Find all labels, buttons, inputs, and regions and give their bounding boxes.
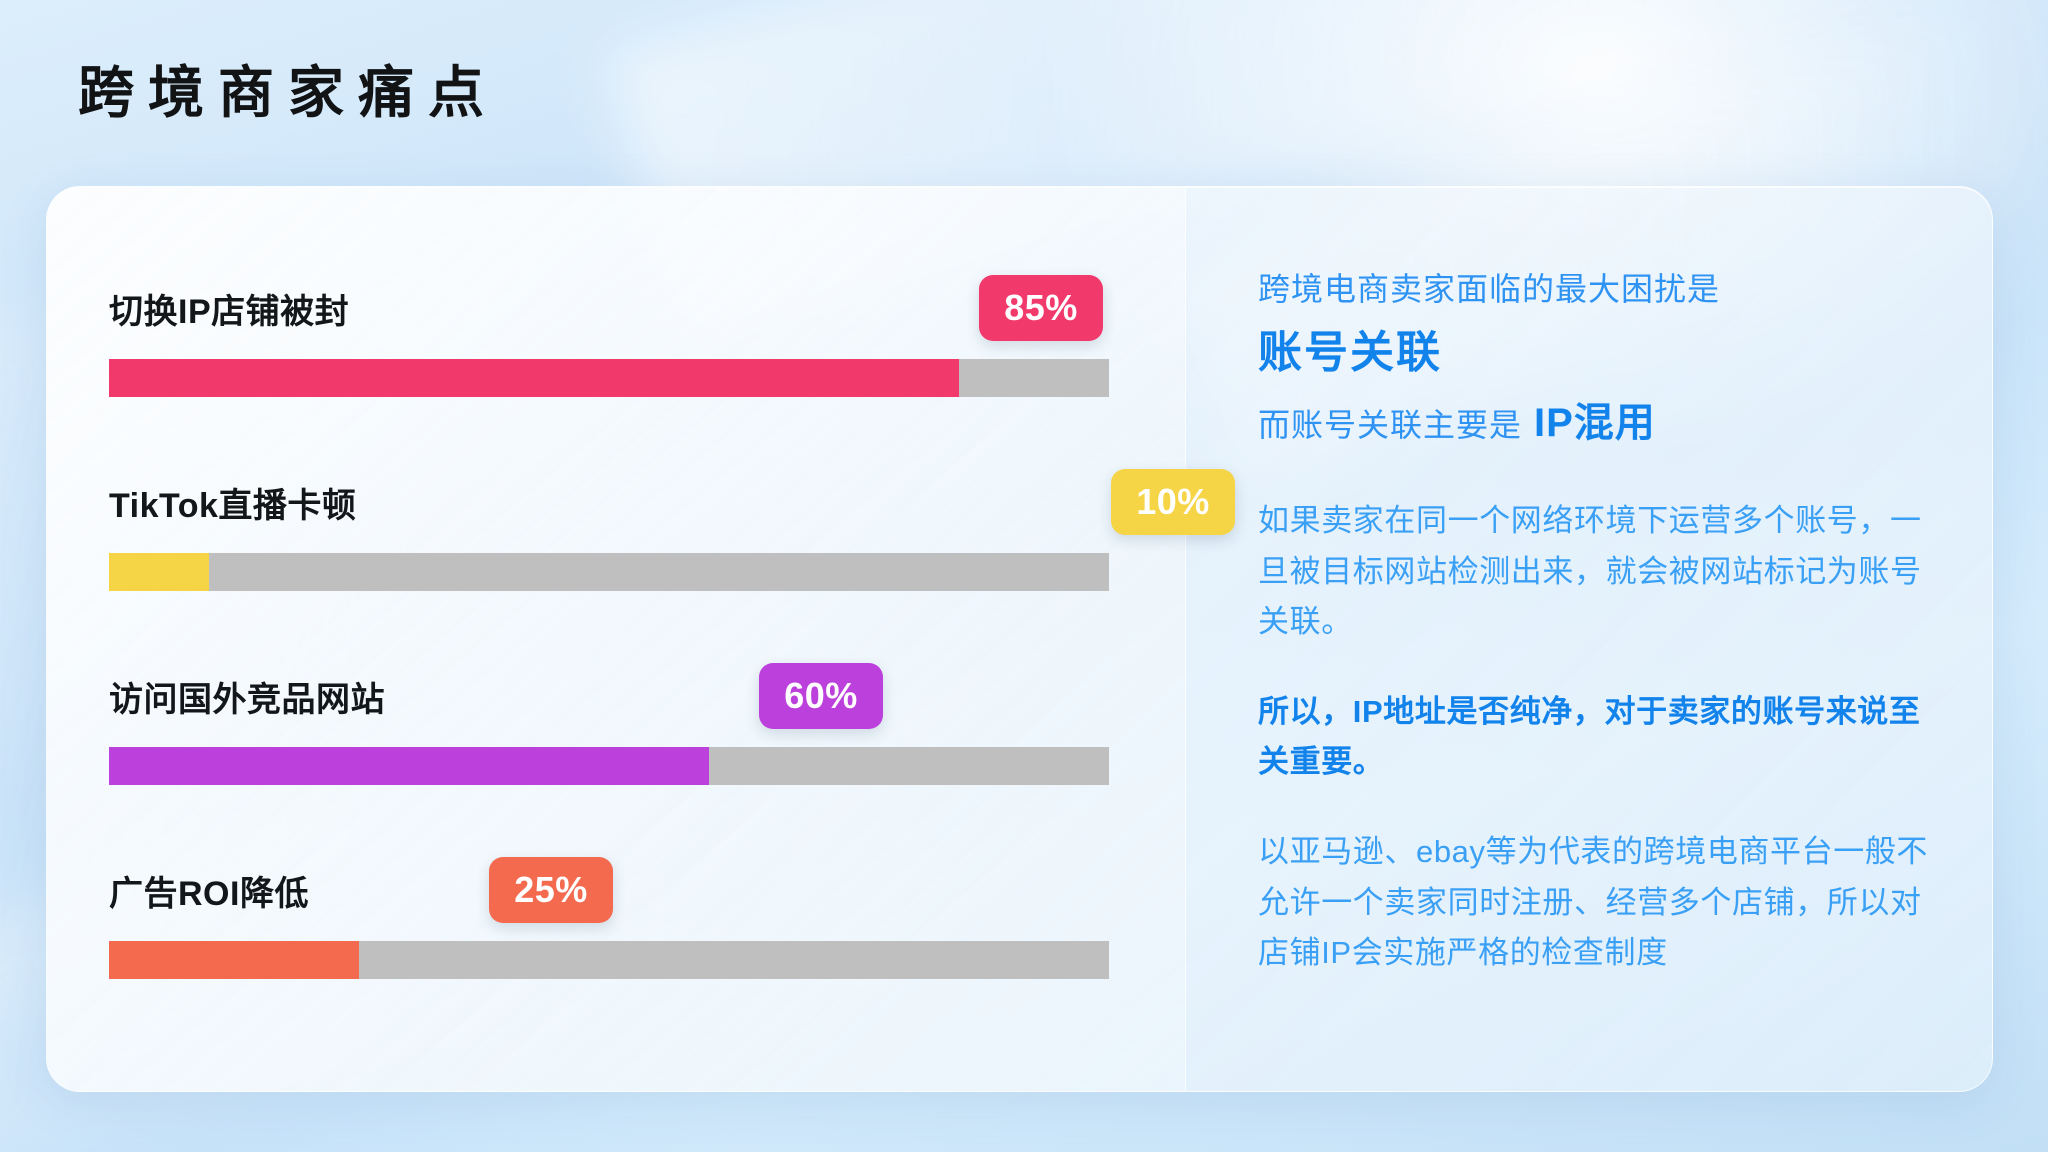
bar-header: 访问国外竞品网站60%: [109, 657, 1123, 735]
panel-paragraph-3: 以亚马逊、ebay等为代表的跨境电商平台一般不允许一个卖家同时注册、经营多个店铺…: [1258, 827, 1940, 978]
bar-track: [109, 941, 1109, 979]
bar-header: 切换IP店铺被封85%: [109, 269, 1123, 347]
chart-panel: 切换IP店铺被封85%TikTok直播卡顿10%访问国外竞品网站60%广告ROI…: [47, 187, 1186, 1091]
bar-value-badge: 60%: [759, 663, 883, 729]
slide-canvas: 跨境商家痛点 切换IP店铺被封85%TikTok直播卡顿10%访问国外竞品网站6…: [0, 0, 2048, 1152]
bar-chart: 切换IP店铺被封85%TikTok直播卡顿10%访问国外竞品网站60%广告ROI…: [47, 269, 1185, 979]
panel-paragraph-2: 所以，IP地址是否纯净，对于卖家的账号来说至关重要。: [1258, 687, 1940, 787]
bar-header: TikTok直播卡顿10%: [109, 463, 1123, 541]
panel-lead: 跨境电商卖家面临的最大困扰是: [1258, 265, 1940, 313]
bar-fill: [109, 359, 959, 397]
bar-row: 切换IP店铺被封85%: [109, 269, 1123, 397]
bar-header: 广告ROI降低25%: [109, 851, 1123, 929]
bar-track: [109, 747, 1109, 785]
panel-paragraph-1: 如果卖家在同一个网络环境下运营多个账号，一旦被目标网站检测出来，就会被网站标记为…: [1258, 496, 1940, 647]
bar-value-badge: 25%: [489, 857, 613, 923]
bar-value-badge: 85%: [979, 275, 1103, 341]
bar-track: [109, 359, 1109, 397]
panel-subheading: 而账号关联主要是IP混用: [1258, 394, 1940, 452]
bar-fill: [109, 747, 709, 785]
bar-row: TikTok直播卡顿10%: [109, 463, 1123, 591]
bar-label: 访问国外竞品网站: [109, 672, 385, 721]
panel-subheading-emphasis: IP混用: [1534, 401, 1656, 445]
bar-fill: [109, 553, 209, 591]
panel-subheading-prefix: 而账号关联主要是: [1258, 407, 1522, 443]
bar-row: 访问国外竞品网站60%: [109, 657, 1123, 785]
panel-keyword: 账号关联: [1258, 323, 1940, 382]
description-panel: 跨境电商卖家面临的最大困扰是 账号关联 而账号关联主要是IP混用 如果卖家在同一…: [1186, 187, 1992, 1091]
bar-fill: [109, 941, 359, 979]
bar-track: [109, 553, 1109, 591]
bar-label: 广告ROI降低: [109, 866, 309, 915]
bar-label: TikTok直播卡顿: [109, 478, 356, 527]
bar-label: 切换IP店铺被封: [109, 284, 349, 333]
bar-row: 广告ROI降低25%: [109, 851, 1123, 979]
content-card: 切换IP店铺被封85%TikTok直播卡顿10%访问国外竞品网站60%广告ROI…: [46, 186, 1993, 1092]
page-title: 跨境商家痛点: [78, 62, 498, 124]
